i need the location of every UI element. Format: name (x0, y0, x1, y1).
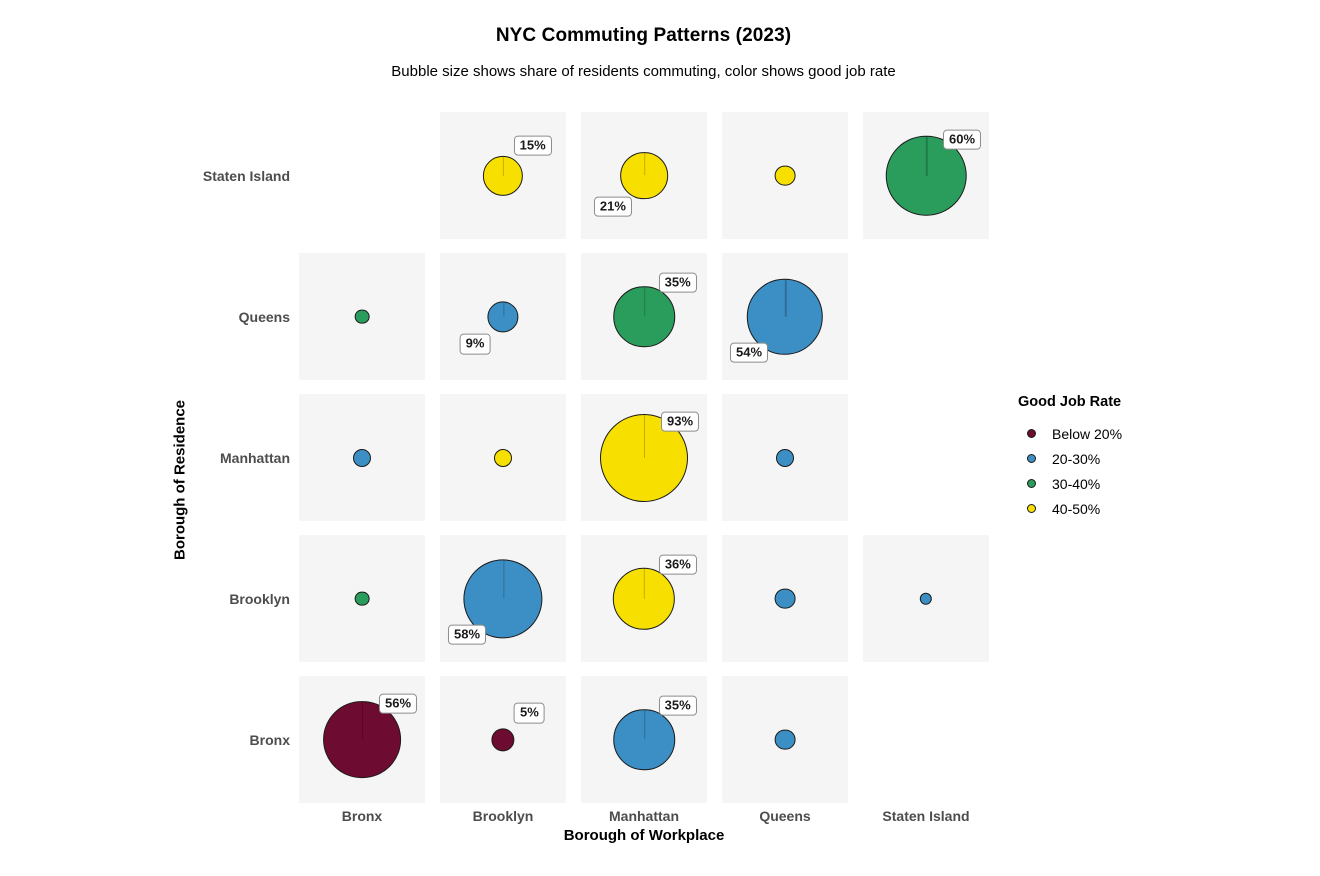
bubble[interactable] (355, 591, 370, 606)
chart-root: NYC Commuting Patterns (2023) Bubble siz… (0, 0, 1320, 876)
legend-color-dot (1027, 454, 1036, 463)
legend-title: Good Job Rate (1018, 394, 1122, 410)
y-axis-title-wrap: Borough of Residence (170, 390, 190, 570)
bubble-value-label: 15% (514, 136, 552, 157)
legend-key (1018, 504, 1044, 513)
bubble[interactable] (494, 449, 512, 467)
bubble-slice-line (785, 279, 786, 316)
x-tick-label-brooklyn: Brooklyn (440, 808, 566, 824)
bubble-value-label: 21% (594, 196, 632, 217)
legend-item-label: 30-40% (1052, 476, 1100, 492)
legend-item[interactable]: 20-30% (1018, 446, 1122, 471)
bubble[interactable] (613, 709, 675, 771)
bubble-slice-line (644, 710, 645, 740)
legend-color-dot (1027, 504, 1036, 513)
y-tick-label-manhattan: Manhattan (170, 450, 290, 466)
legend-color-dot (1027, 429, 1036, 438)
x-tick-label-queens: Queens (722, 808, 848, 824)
bubble-slice-line (503, 156, 504, 175)
bubble[interactable] (775, 729, 796, 750)
y-axis-title: Borough of Residence (172, 400, 189, 560)
bubble-value-label: 58% (448, 624, 486, 645)
bubble[interactable] (775, 165, 796, 186)
bubble[interactable] (776, 449, 794, 467)
legend-item-label: Below 20% (1052, 426, 1122, 442)
legend-item-label: 20-30% (1052, 451, 1100, 467)
bubble-slice-line (503, 302, 504, 317)
y-tick-label-staten-island: Staten Island (170, 168, 290, 184)
y-tick-label-queens: Queens (170, 309, 290, 325)
bubble[interactable] (613, 286, 675, 348)
bubble-value-label: 9% (460, 334, 491, 355)
legend: Good Job Rate Below 20%20-30%30-40%40-50… (1018, 394, 1122, 521)
chart-subtitle: Bubble size shows share of residents com… (0, 63, 1287, 80)
legend-item-label: 40-50% (1052, 501, 1100, 517)
bubble-slice-line (503, 560, 504, 599)
bubble-slice-line (644, 153, 645, 176)
legend-color-dot (1027, 479, 1036, 488)
bubble[interactable] (355, 309, 370, 324)
x-tick-label-bronx: Bronx (299, 808, 425, 824)
x-axis-title: Borough of Workplace (299, 827, 989, 844)
bubble-value-label: 35% (659, 272, 697, 293)
bubble-value-label: 54% (730, 342, 768, 363)
bubble-slice-line (644, 568, 645, 598)
bubble-value-label: 5% (514, 703, 545, 724)
bubble[interactable] (620, 152, 668, 200)
legend-items: Below 20%20-30%30-40%40-50% (1018, 421, 1122, 521)
legend-item[interactable]: Below 20% (1018, 421, 1122, 446)
bubble-slice-line (644, 287, 645, 317)
legend-key (1018, 454, 1044, 463)
bubble-value-label: 60% (943, 129, 981, 150)
legend-key (1018, 429, 1044, 438)
bubble[interactable] (353, 449, 371, 467)
legend-key (1018, 479, 1044, 488)
x-tick-label-manhattan: Manhattan (581, 808, 707, 824)
bubble-value-label: 93% (661, 411, 699, 432)
bubble-value-label: 56% (379, 693, 417, 714)
chart-title: NYC Commuting Patterns (2023) (0, 25, 1287, 47)
bubble-slice-line (644, 415, 645, 458)
bubble-value-label: 36% (659, 554, 697, 575)
y-tick-label-brooklyn: Brooklyn (170, 591, 290, 607)
bubble-slice-line (362, 702, 363, 740)
bubble-slice-line (926, 136, 927, 175)
legend-item[interactable]: 40-50% (1018, 496, 1122, 521)
legend-item[interactable]: 30-40% (1018, 471, 1122, 496)
y-tick-label-bronx: Bronx (170, 732, 290, 748)
x-tick-label-staten-island: Staten Island (863, 808, 989, 824)
bubble-value-label: 35% (659, 695, 697, 716)
bubble[interactable] (775, 588, 796, 609)
